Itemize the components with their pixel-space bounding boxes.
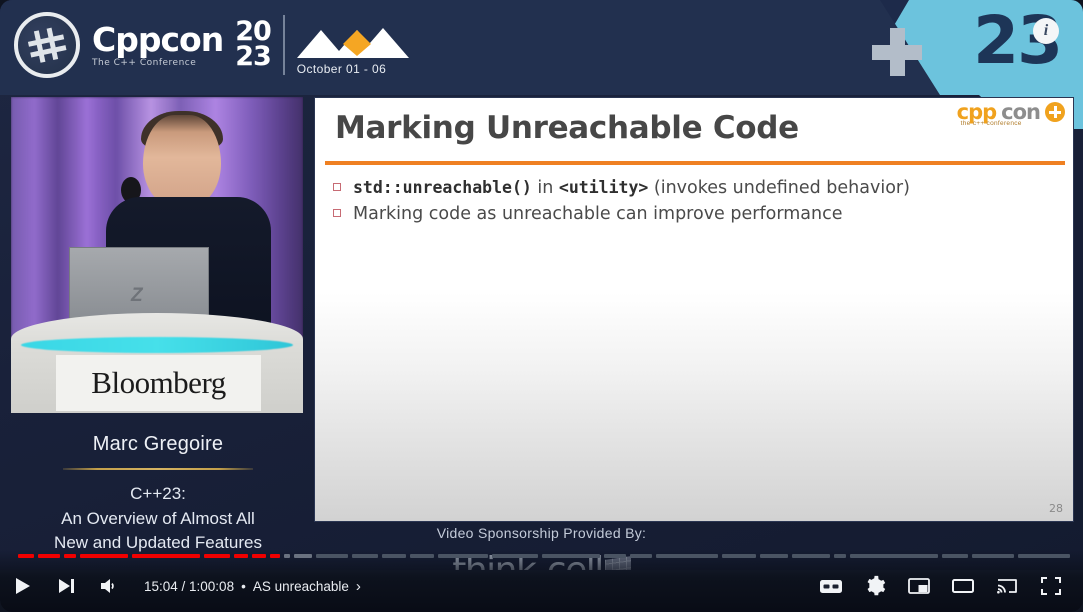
progress-segment[interactable] — [234, 554, 248, 558]
progress-segment[interactable] — [656, 554, 718, 558]
plus-circle-icon — [1045, 102, 1065, 122]
progress-segment[interactable] — [542, 554, 600, 558]
time-current-duration: 15:04 / 1:00:08 — [144, 579, 234, 594]
progress-segment[interactable] — [630, 554, 652, 558]
cppcon-logo-group: Cppcon The C++ Conference 20 23 October … — [14, 12, 409, 78]
slide-cppcon-logo: cppcon the c++ conference — [957, 100, 1065, 124]
volume-button[interactable] — [88, 564, 132, 608]
hash-glyph-icon — [26, 26, 68, 65]
chevron-right-icon[interactable]: › — [356, 578, 361, 595]
plus-mark-icon — [872, 28, 922, 76]
list-item: std::unreachable() in <utility> (invokes… — [333, 178, 1057, 198]
chapter-label[interactable]: AS unreachable — [253, 579, 349, 594]
progress-segment[interactable] — [80, 554, 128, 558]
progress-segment[interactable] — [604, 554, 626, 558]
podium-sign-text: Bloomberg — [91, 365, 225, 401]
speaker-name: Marc Gregoire — [11, 433, 305, 456]
control-row: 15:04 / 1:00:08•AS unreachable› — [0, 560, 1083, 612]
player-controls: 15:04 / 1:00:08•AS unreachable› — [0, 550, 1083, 612]
list-item: Marking code as unreachable can improve … — [333, 204, 1057, 224]
conference-date: October 01 - 06 — [297, 62, 409, 76]
progress-segment[interactable] — [792, 554, 830, 558]
cppcon-wordmark: Cppcon — [92, 23, 223, 56]
play-button[interactable] — [0, 564, 44, 608]
slide-title-underline — [325, 161, 1065, 165]
speaker-photo: Z Bloomberg — [11, 97, 303, 413]
fullscreen-icon — [1040, 576, 1062, 596]
slide-logo-tagline: the c++ conference — [961, 120, 1022, 127]
bullet-text: Marking code as unreachable can improve … — [353, 204, 842, 224]
progress-bar[interactable] — [0, 554, 1083, 559]
progress-segment[interactable] — [204, 554, 230, 558]
subtitles-button[interactable] — [809, 564, 853, 608]
bullet-square-icon — [333, 183, 341, 191]
theater-button[interactable] — [941, 564, 985, 608]
video-stage[interactable]: Cppcon The C++ Conference 20 23 October … — [0, 0, 1083, 570]
cast-button[interactable] — [985, 564, 1029, 608]
cast-icon — [995, 576, 1019, 596]
miniplayer-button[interactable] — [897, 564, 941, 608]
closed-captions-icon — [818, 576, 844, 596]
progress-segment[interactable] — [270, 554, 280, 558]
bullet-code-1: std::unreachable() — [353, 178, 532, 197]
speaker-divider — [63, 468, 253, 470]
slide-bullet-list: std::unreachable() in <utility> (invokes… — [333, 178, 1057, 230]
progress-segment[interactable] — [316, 554, 348, 558]
bullet-square-icon — [333, 209, 341, 217]
progress-segment[interactable] — [132, 554, 200, 558]
right-controls — [809, 564, 1083, 608]
progress-segment[interactable] — [942, 554, 968, 558]
progress-segment[interactable] — [722, 554, 756, 558]
progress-segment[interactable] — [252, 554, 266, 558]
progress-segment[interactable] — [1018, 554, 1070, 558]
settings-button[interactable] — [853, 564, 897, 608]
speaker-panel: Z Bloomberg Marc Gregoire C++23: An Over… — [11, 97, 305, 552]
progress-segment[interactable] — [352, 554, 378, 558]
conference-banner: Cppcon The C++ Conference 20 23 October … — [0, 0, 1083, 95]
fullscreen-button[interactable] — [1029, 564, 1073, 608]
progress-segment[interactable] — [834, 554, 846, 558]
slide-title: Marking Unreachable Code — [335, 110, 799, 146]
talk-title: C++23: An Overview of Almost All New and… — [11, 482, 305, 556]
progress-segment[interactable] — [972, 554, 1014, 558]
miniplayer-icon — [907, 576, 931, 596]
next-track-icon — [56, 576, 76, 596]
cppcon-circle-icon — [14, 12, 80, 78]
video-player: Cppcon The C++ Conference 20 23 October … — [0, 0, 1083, 612]
progress-segment[interactable] — [18, 554, 34, 558]
progress-segment[interactable] — [294, 554, 312, 558]
next-button[interactable] — [44, 564, 88, 608]
bullet-tail-1: (invokes undefined behavior) — [648, 178, 910, 198]
progress-segment[interactable] — [850, 554, 938, 558]
progress-segment[interactable] — [410, 554, 434, 558]
volume-icon — [99, 576, 121, 596]
mountains-icon — [297, 14, 409, 58]
progress-segment[interactable] — [382, 554, 406, 558]
talk-title-line1: C++23: — [11, 482, 305, 507]
time-display: 15:04 / 1:00:08•AS unreachable› — [144, 578, 361, 595]
play-icon — [12, 576, 32, 596]
progress-segment[interactable] — [438, 554, 488, 558]
progress-segment[interactable] — [38, 554, 60, 558]
slide-page-number: 28 — [1049, 502, 1063, 515]
gear-icon — [864, 575, 886, 597]
bullet-code-2: <utility> — [559, 178, 648, 197]
progress-segment[interactable] — [284, 554, 290, 558]
banner-divider — [283, 15, 285, 75]
progress-segment[interactable] — [492, 554, 538, 558]
bullet-text: std::unreachable() in <utility> (invokes… — [353, 178, 910, 198]
progress-segment[interactable] — [760, 554, 788, 558]
bullet-mid-1: in — [532, 178, 559, 198]
progress-segment[interactable] — [64, 554, 76, 558]
podium-sign: Bloomberg — [56, 355, 261, 411]
theater-mode-icon — [951, 576, 975, 596]
cppcon-tagline: The C++ Conference — [92, 58, 223, 68]
sponsor-label: Video Sponsorship Provided By: — [0, 525, 1083, 541]
time-separator: • — [241, 579, 246, 594]
banner-year-bottom: 23 — [235, 45, 271, 70]
banner-year-stack: 20 23 — [235, 20, 271, 70]
presentation-slide: Marking Unreachable Code cppcon the c++ … — [314, 97, 1074, 522]
info-icon[interactable]: i — [1033, 18, 1059, 44]
